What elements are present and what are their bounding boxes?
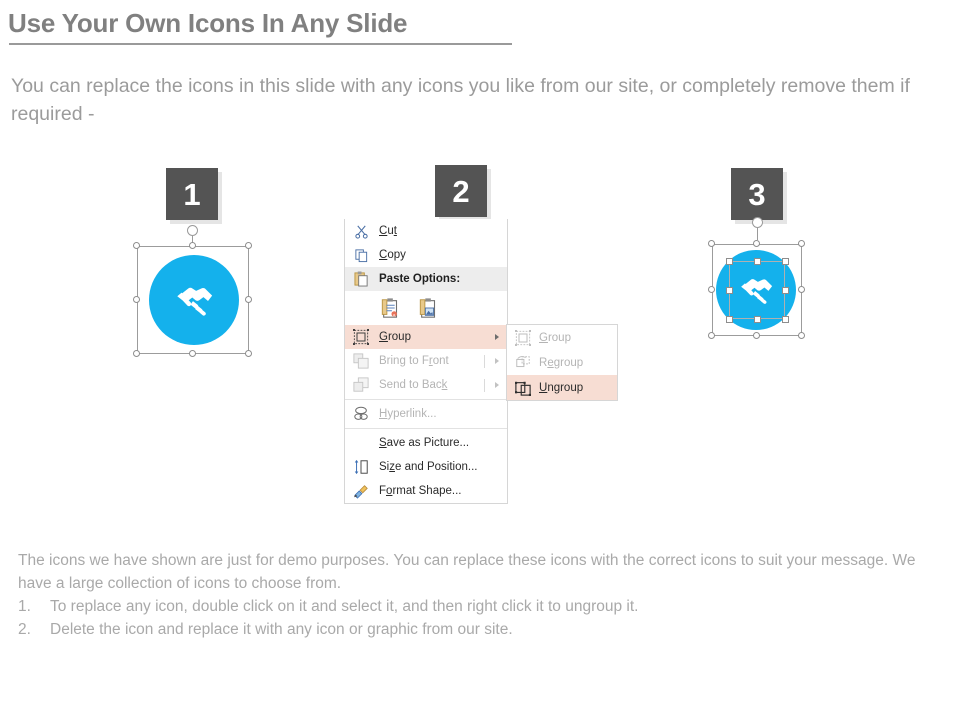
menu-item-cut[interactable]: Cut [345,219,507,243]
format-shape-icon [352,482,370,500]
resize-handle-nw[interactable] [708,240,715,247]
hyperlink-icon [352,405,370,423]
subshape-handle-se[interactable] [782,316,789,323]
resize-handle-e[interactable] [245,296,252,303]
group-icon [352,328,370,346]
slide-canvas: Use Your Own Icons In Any Slide You can … [0,0,960,720]
menu-item-label: Size and Position... [379,461,499,473]
menu-item-save-as-picture[interactable]: Save as Picture... [345,431,507,455]
page-title: Use Your Own Icons In Any Slide [8,8,407,39]
footer-list-item-2: 2. Delete the icon and replace it with a… [18,618,943,641]
footer-paragraph: The icons we have shown are just for dem… [18,549,943,595]
menu-item-label: Cut [379,225,499,237]
resize-handle-n[interactable] [753,240,760,247]
menu-item-label: Send to Back [379,379,484,391]
step-badge-1: 1 [166,168,218,220]
resize-handle-w[interactable] [708,286,715,293]
menu-item-send-to-back[interactable]: Send to Back [345,373,507,397]
regroup-icon [514,354,532,372]
submenu-item-ungroup[interactable]: Ungroup [507,375,617,400]
menu-item-format-shape[interactable]: Format Shape... [345,479,507,503]
menu-item-paste-options: Paste Options: [345,267,507,291]
menu-item-label: Paste Options: [379,273,499,285]
rotation-handle[interactable] [187,225,198,236]
divider [484,355,485,368]
scissors-icon [352,222,370,240]
menu-item-bring-to-front[interactable]: Bring to Front [345,349,507,373]
menu-item-group[interactable]: Group [345,325,507,349]
menu-item-label: Copy [379,249,499,261]
chevron-right-icon [495,358,499,364]
menu-item-label: Group [379,331,491,343]
rotation-stem [757,228,758,240]
list-number: 2. [18,618,50,641]
resize-handle-s[interactable] [189,350,196,357]
bring-to-front-icon [352,352,370,370]
resize-handle-s[interactable] [753,332,760,339]
menu-item-label: Format Shape... [379,485,499,497]
selection-frame-3-inner [729,261,785,319]
subshape-handle-w[interactable] [726,287,733,294]
list-number: 1. [18,595,50,618]
submenu-item-label: Ungroup [539,382,609,394]
paste-icon [352,270,370,288]
menu-item-hyperlink[interactable]: Hyperlink... [345,402,507,426]
resize-handle-n[interactable] [189,242,196,249]
footer-list-item-1: 1. To replace any icon, double click on … [18,595,943,618]
context-menu[interactable]: Cut Copy Paste Options: [344,219,508,504]
ungroup-icon [514,379,532,397]
resize-handle-sw[interactable] [133,350,140,357]
resize-handle-nw[interactable] [133,242,140,249]
menu-item-copy[interactable]: Copy [345,243,507,267]
submenu-item-group[interactable]: Group [507,325,617,350]
subshape-handle-ne[interactable] [782,258,789,265]
group-icon [514,329,532,347]
page-subtitle: You can replace the icons in this slide … [11,72,956,128]
submenu-item-label: Group [539,332,609,344]
subshape-handle-nw[interactable] [726,258,733,265]
footer-notes: The icons we have shown are just for dem… [18,549,943,641]
submenu-item-label: Regroup [539,357,609,369]
step-badge-3: 3 [731,168,783,220]
resize-handle-w[interactable] [133,296,140,303]
resize-handle-sw[interactable] [708,332,715,339]
resize-handle-se[interactable] [245,350,252,357]
rotation-handle[interactable] [752,217,763,228]
send-to-back-icon [352,376,370,394]
menu-item-label: Hyperlink... [379,408,499,420]
divider [484,379,485,392]
menu-item-label: Save as Picture... [379,437,499,449]
menu-item-label: Bring to Front [379,355,484,367]
resize-handle-se[interactable] [798,332,805,339]
list-text: To replace any icon, double click on it … [50,595,638,618]
paste-use-destination-theme-icon[interactable]: a [379,296,403,320]
subshape-handle-sw[interactable] [726,316,733,323]
copy-icon [352,246,370,264]
selection-frame-1 [137,246,249,354]
subshape-handle-n[interactable] [754,258,761,265]
paste-picture-icon[interactable] [417,296,441,320]
subshape-handle-s[interactable] [754,316,761,323]
chevron-right-icon [495,334,499,340]
submenu-item-regroup[interactable]: Regroup [507,350,617,375]
group-submenu[interactable]: Group Regroup Ungroup [506,324,618,401]
resize-handle-ne[interactable] [245,242,252,249]
menu-separator [345,428,507,429]
title-underline [9,43,512,45]
paste-options-row: a [345,291,507,325]
resize-handle-ne[interactable] [798,240,805,247]
list-text: Delete the icon and replace it with any … [50,618,513,641]
menu-separator [345,399,507,400]
size-position-icon [352,458,370,476]
step-badge-2: 2 [435,165,487,217]
menu-item-size-and-position[interactable]: Size and Position... [345,455,507,479]
resize-handle-e[interactable] [798,286,805,293]
chevron-right-icon [495,382,499,388]
subshape-handle-e[interactable] [782,287,789,294]
